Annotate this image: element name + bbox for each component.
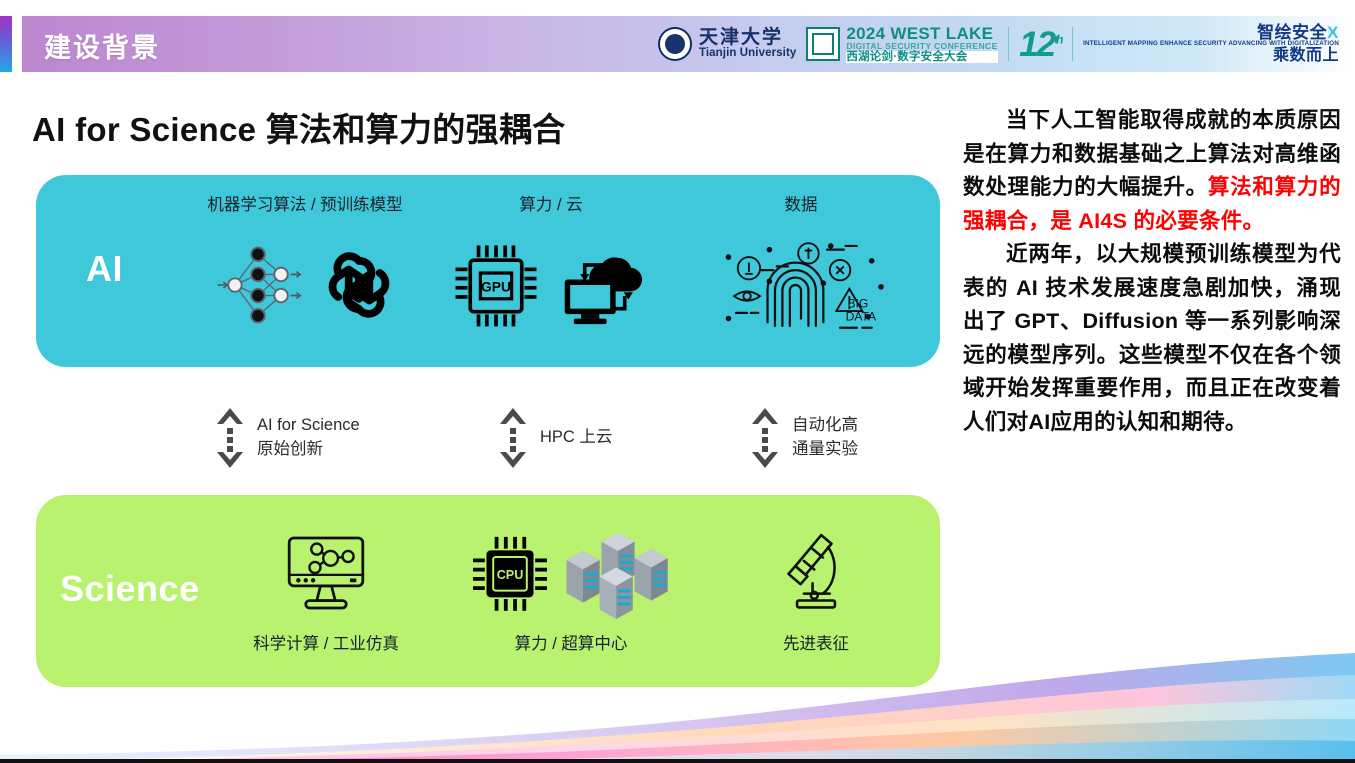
- ai-panel-label: AI: [86, 248, 123, 290]
- ai-col3-heading: 数据: [686, 191, 916, 215]
- section-title: 建设背景: [44, 26, 160, 65]
- up-down-arrow-icon: [750, 406, 780, 470]
- west-lake-conference-logo: 2024 WEST LAKE DIGITAL SECURITY CONFEREN…: [806, 25, 997, 64]
- ai-panel: AI 机器学习算法 / 预训练模型 算力 / 云 数据: [36, 175, 940, 367]
- edition-number: 12: [1019, 25, 1054, 64]
- connector-3-line1: 自动化高: [792, 414, 858, 438]
- monitor-molecule-icon: [280, 527, 372, 619]
- up-down-arrow-icon: [498, 406, 528, 470]
- sci-col1-caption: 科学计算 / 工业仿真: [216, 630, 436, 654]
- up-down-arrow-icon: [215, 406, 245, 470]
- west-lake-seal-icon: [806, 27, 840, 61]
- edition-suffix: th: [1054, 32, 1061, 46]
- slogan-line1: 智绘安全X: [1083, 24, 1339, 42]
- paragraph-1: 当下人工智能取得成就的本质原因是在算力和数据基础之上算法对高维函数处理能力的大幅…: [963, 104, 1341, 238]
- tju-name-cn: 天津大学: [699, 28, 796, 47]
- server-cluster-icon: [562, 527, 674, 619]
- body-text-column: 当下人工智能取得成就的本质原因是在算力和数据基础之上算法对高维函数处理能力的大幅…: [963, 104, 1341, 439]
- sci-col3-icons: [726, 523, 906, 623]
- west-lake-text: 2024 WEST LAKE DIGITAL SECURITY CONFEREN…: [846, 25, 997, 64]
- cpu-chip-icon: CPU: [468, 527, 552, 619]
- tju-text: 天津大学 Tianjin University: [699, 28, 796, 59]
- slogan-logo: 智绘安全X INTELLIGENT MAPPING ENHANCE SECURI…: [1083, 24, 1339, 65]
- edition-badge: 12th: [1019, 27, 1061, 62]
- openai-logo-icon: [316, 242, 402, 328]
- big-data-fingerprint-icon: BIG DATA: [708, 229, 894, 341]
- ai-col3-icons: BIG DATA: [686, 227, 916, 342]
- svg-text:DATA: DATA: [846, 309, 877, 323]
- ai-col1-icons: [186, 230, 426, 340]
- sci-col1-icons: [226, 523, 426, 623]
- science-panel-label: Science: [60, 568, 200, 610]
- gpu-chip-icon: GPU: [450, 236, 542, 334]
- slogan-x-mark: X: [1327, 23, 1339, 42]
- microscope-icon: [773, 527, 859, 619]
- connector-1-text: AI for Science 原始创新: [257, 414, 360, 462]
- connector-3: 自动化高 通量实验: [750, 406, 858, 470]
- connector-1-line2: 原始创新: [257, 438, 360, 462]
- connector-3-text: 自动化高 通量实验: [792, 414, 858, 462]
- connector-2: HPC 上云: [498, 406, 612, 470]
- west-lake-line3: 西湖论剑·数字安全大会: [846, 51, 997, 63]
- logo-strip: 天津大学 Tianjin University 2024 WEST LAKE D…: [658, 20, 1339, 68]
- page-title: AI for Science 算法和算力的强耦合: [32, 103, 565, 151]
- connector-1: AI for Science 原始创新: [215, 406, 360, 470]
- slide-canvas: 建设背景 天津大学 Tianjin University 2024 WEST L…: [0, 0, 1355, 763]
- slogan-line1-text: 智绘安全: [1257, 23, 1327, 42]
- slogan-line3: 乘数而上: [1083, 48, 1339, 65]
- neural-network-icon: [210, 237, 306, 333]
- header-accent-bar: [0, 16, 12, 72]
- connector-2-text: HPC 上云: [540, 426, 612, 450]
- sci-col2-caption: 算力 / 超算中心: [461, 630, 681, 654]
- connector-2-line1: HPC 上云: [540, 426, 612, 450]
- logo-divider-2: [1072, 27, 1074, 61]
- svg-text:CPU: CPU: [497, 568, 524, 582]
- cloud-monitor-icon: [552, 239, 652, 331]
- west-lake-line1: 2024 WEST LAKE: [846, 25, 997, 43]
- sci-col2-icons: CPU: [456, 523, 686, 623]
- logo-divider: [1008, 27, 1010, 61]
- svg-text:BIG: BIG: [848, 296, 869, 310]
- ai-col1-heading: 机器学习算法 / 预训练模型: [140, 191, 470, 215]
- tju-seal-icon: [658, 27, 692, 61]
- connector-1-line1: AI for Science: [257, 414, 360, 438]
- tju-name-en: Tianjin University: [699, 48, 796, 60]
- ai-col2-icons: GPU: [436, 227, 666, 342]
- connector-3-line2: 通量实验: [792, 438, 858, 462]
- ai-col2-heading: 算力 / 云: [436, 191, 666, 215]
- paragraph-2: 近两年，以大规模预训练模型为代表的 AI 技术发展速度急剧加快，涌现出了 GPT…: [963, 238, 1341, 439]
- science-panel: Science 科学计算 / 工业仿真: [36, 495, 940, 687]
- svg-text:GPU: GPU: [481, 279, 511, 294]
- sci-col3-caption: 先进表征: [726, 630, 906, 654]
- tianjin-university-logo: 天津大学 Tianjin University: [658, 27, 796, 61]
